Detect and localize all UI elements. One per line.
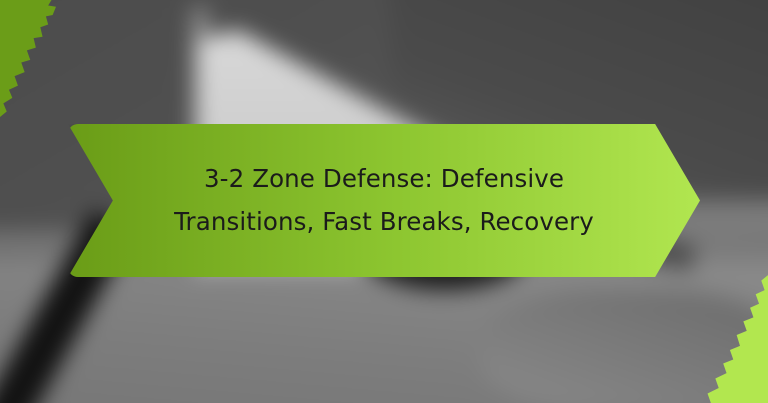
ribbon-banner: 3-2 Zone Defense: Defensive Transitions,… <box>68 124 700 277</box>
page-title: 3-2 Zone Defense: Defensive Transitions,… <box>134 158 634 242</box>
title-card: 3-2 Zone Defense: Defensive Transitions,… <box>0 0 768 403</box>
ribbon-content: 3-2 Zone Defense: Defensive Transitions,… <box>68 124 700 277</box>
